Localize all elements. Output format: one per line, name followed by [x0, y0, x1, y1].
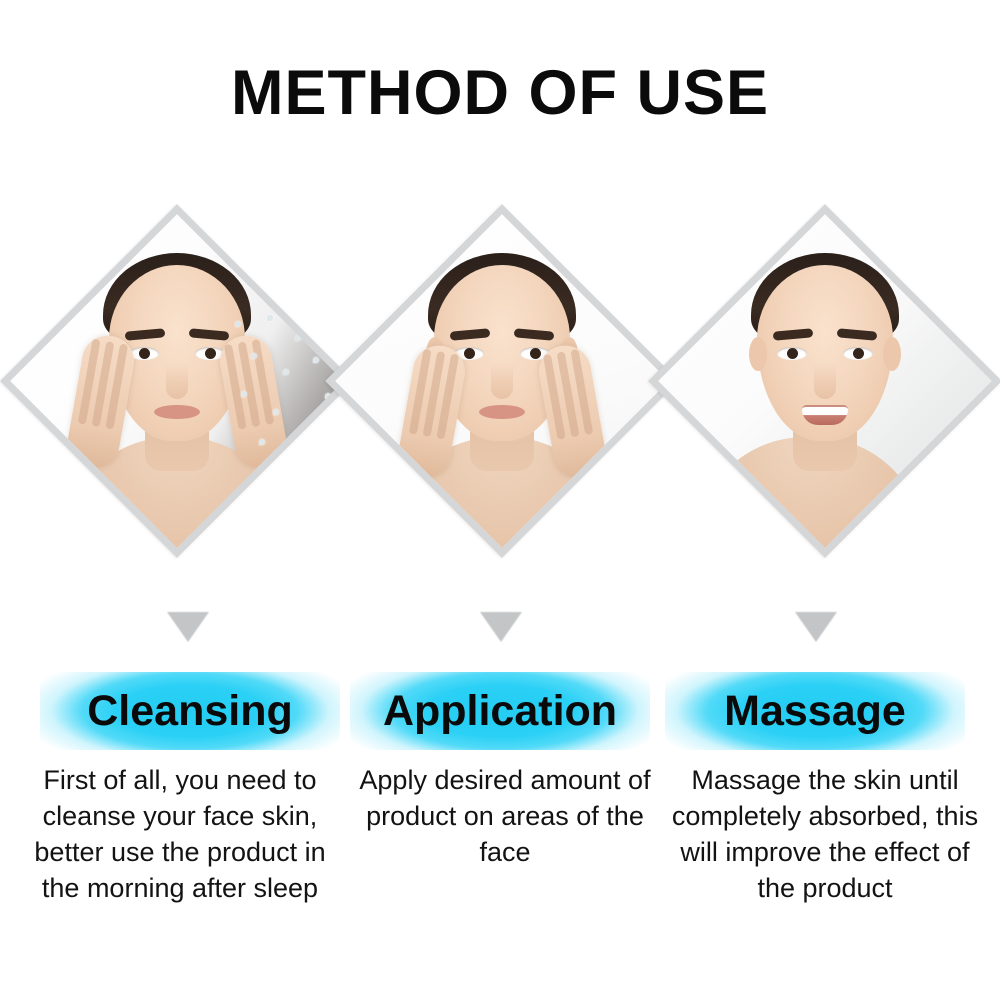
step-labels-row: Cleansing Application Massage [0, 672, 1000, 752]
step-description-massage: Massage the skin until completely absorb… [665, 762, 985, 906]
step-image-cleansing [7, 196, 347, 566]
diamond-clip [10, 214, 344, 548]
step-images-row [0, 196, 1000, 576]
photo-cleansing [10, 214, 344, 548]
method-of-use-infographic: METHOD OF USE [0, 0, 1000, 1000]
photo-massage [658, 214, 992, 548]
diamond-frame [0, 204, 354, 558]
arrow-down-icon [795, 612, 837, 642]
step-image-massage [655, 196, 995, 566]
arrow-down-icon [480, 612, 522, 642]
arrows-row [0, 612, 1000, 652]
step-description-application: Apply desired amount of product on areas… [345, 762, 665, 870]
diamond-frame [648, 204, 1000, 558]
step-description-cleansing: First of all, you need to cleanse your f… [20, 762, 340, 906]
step-image-application [332, 196, 672, 566]
arrow-down-icon [167, 612, 209, 642]
page-title: METHOD OF USE [0, 62, 1000, 125]
diamond-clip [658, 214, 992, 548]
diamond-frame [325, 204, 679, 558]
diamond-clip [335, 214, 669, 548]
step-label-application: Application [350, 672, 650, 750]
step-descriptions-row: First of all, you need to cleanse your f… [0, 762, 1000, 962]
photo-application [335, 214, 669, 548]
step-label-cleansing: Cleansing [40, 672, 340, 750]
step-label-massage: Massage [665, 672, 965, 750]
